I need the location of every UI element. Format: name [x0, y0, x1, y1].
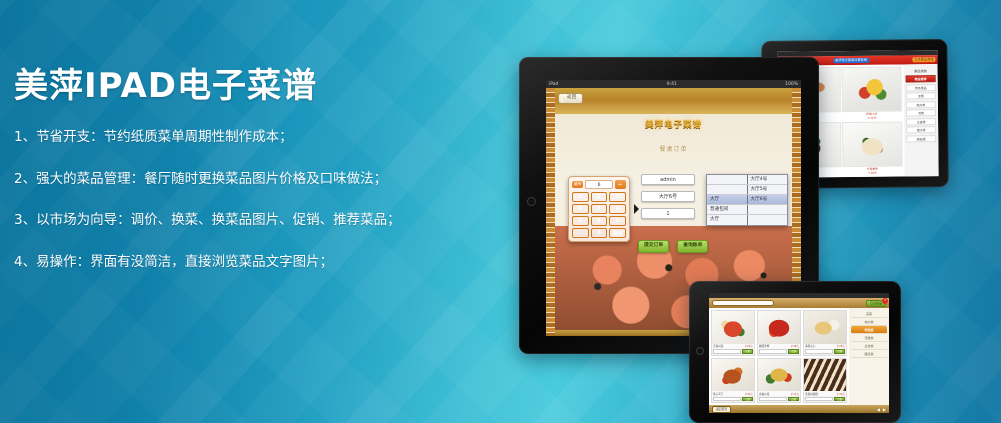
dish-price: ￥42元 — [745, 392, 754, 396]
sidebar-item-stirfry[interactable]: 热炒类 — [906, 101, 936, 108]
home-button[interactable] — [527, 197, 536, 206]
dish-name: 辣子鸡丁 — [713, 392, 723, 396]
dish-order-row: 点菜 — [804, 396, 846, 402]
dish-price: ￥22元 — [791, 392, 800, 396]
table-row[interactable]: 大厅4号 — [707, 175, 787, 185]
table-select-dropdown[interactable]: 大厅4号 大厅5号 大厅 大厅6号 普通包间 — [706, 174, 788, 226]
app-subtitle: 餐桌订单 — [546, 144, 801, 153]
status-carrier: iPad — [549, 82, 558, 87]
keypad-key[interactable]: 5 — [591, 204, 608, 214]
dish-price: ￥32元 — [842, 116, 903, 121]
dish-card[interactable]: 彩椒小炒 ￥32元 — [841, 67, 902, 121]
dish-name: 香酥点心 — [805, 344, 815, 348]
tablet-device-bottom-right: 已点菜品 3 宫保时蔬 ￥26元 — [689, 281, 901, 423]
keypad-key[interactable]: 2 — [591, 192, 608, 202]
dish-card[interactable]: 宫保时蔬 ￥26元 点菜 — [711, 310, 755, 356]
sidebar-item-staple[interactable]: 主食类 — [906, 118, 936, 125]
submit-order-button[interactable]: 提交订单 — [638, 240, 669, 253]
sidebar-item-specialty[interactable]: 特色菜品 — [906, 84, 936, 91]
pointer-arrow-icon — [634, 204, 644, 214]
sidebar-item-dessert[interactable]: 甜点类 — [851, 350, 887, 358]
chevron-right-icon[interactable]: ▶ — [883, 407, 886, 412]
sidebar-item-specialty[interactable]: 特色菜 — [851, 326, 887, 334]
order-actions: 提交订单 查询账单 — [638, 240, 708, 253]
sidebar-item-cold[interactable]: 凉菜 — [851, 310, 887, 318]
dish-image — [758, 359, 800, 392]
dish-price: ￥26元 — [745, 344, 754, 348]
dish-order-row: 点菜 — [758, 396, 800, 402]
user-field[interactable]: admin — [641, 174, 695, 185]
dish-order-row: 点菜 — [712, 396, 754, 402]
add-dish-button[interactable]: 点菜 — [834, 397, 845, 402]
quantity-stepper[interactable] — [805, 349, 833, 354]
add-dish-button[interactable]: 点菜 — [742, 349, 753, 354]
table-cell-name: 大厅4号 — [747, 175, 788, 184]
app-footer: 返回首页 ◀ ▶ — [709, 405, 889, 413]
tablet-screen-dish-picker: 已点菜品 3 宫保时蔬 ￥26元 — [709, 293, 889, 413]
sidebar-item-dessert[interactable]: 甜品类 — [906, 135, 936, 142]
dish-card[interactable]: 香酥点心 ￥18元 点菜 — [803, 310, 847, 356]
cart-count-badge: 3 — [882, 298, 888, 304]
dish-price: ￥18元 — [837, 344, 846, 348]
keypad-key[interactable]: 0 — [591, 228, 608, 238]
home-button[interactable] — [696, 347, 704, 355]
table-cell-name: 大厅5号 — [747, 185, 788, 194]
keypad-key[interactable]: 8 — [591, 216, 608, 226]
dish-image — [804, 359, 846, 392]
status-time: 9:41 — [667, 82, 677, 87]
table-field[interactable]: 大厅6号 — [641, 191, 695, 202]
list-item: 2、强大的菜品管理：餐厅随时更换菜品图片价格及口味做法； — [14, 173, 494, 187]
promo-banner: 美萍IPAD电子菜谱 1、节省开支：节约纸质菜单周期性制作成本； 2、强大的菜品… — [0, 0, 1001, 423]
backspace-icon[interactable] — [615, 180, 626, 189]
sidebar-item-featured[interactable]: 精选推荐 — [906, 75, 936, 82]
list-item: 4、易操作：界面有没简洁，直接浏览菜品文字图片； — [14, 256, 494, 270]
table-cell-name — [747, 205, 788, 214]
back-button[interactable]: 返回 — [558, 93, 583, 104]
order-form-fields: admin 大厅6号 1 — [641, 174, 695, 225]
sidebar-item-stirfry[interactable]: 热炒类 — [851, 318, 887, 326]
back-home-button[interactable]: 返回首页 — [712, 406, 731, 413]
keypad-key[interactable]: 6 — [609, 204, 626, 214]
dish-order-row: 点菜 — [712, 349, 754, 355]
query-bill-button[interactable]: 查询账单 — [677, 240, 708, 253]
ornament-border-left-icon — [546, 88, 555, 336]
dish-grid: 宫保时蔬 ￥26元 点菜 糖醋里脊 — [709, 308, 849, 405]
sidebar-item-staple[interactable]: 主食类 — [851, 342, 887, 350]
quantity-stepper[interactable] — [713, 349, 741, 354]
keypad-tag-label: 桌号 — [572, 181, 583, 189]
dish-card[interactable]: 糖醋里脊 ￥38元 点菜 — [757, 310, 801, 356]
dish-picker-body: 宫保时蔬 ￥26元 点菜 糖醋里脊 — [709, 308, 889, 405]
dish-image — [712, 311, 754, 344]
ordered-items-button[interactable]: 已点菜品管理 — [912, 57, 935, 62]
dish-image — [712, 359, 754, 392]
list-item: 1、节省开支：节约纸质菜单周期性制作成本； — [14, 131, 494, 145]
add-dish-button[interactable]: 点菜 — [788, 397, 799, 402]
keypad-key[interactable]: 3 — [609, 192, 626, 202]
table-cell-area — [707, 185, 747, 194]
sidebar-item-drinks[interactable]: 酒水类 — [906, 126, 936, 133]
app-topbar: 已点菜品 3 — [709, 298, 889, 308]
count-field[interactable]: 1 — [641, 208, 695, 219]
keypad-key[interactable]: 9 — [609, 216, 626, 226]
dish-image — [758, 311, 800, 344]
table-cell-area — [707, 175, 747, 184]
dish-image — [842, 121, 903, 167]
cart-label: 已点菜品 — [870, 301, 882, 305]
status-battery: 100% — [785, 82, 798, 87]
category-sidebar: 凉菜 热炒类 特色菜 汤羹类 主食类 甜点类 — [849, 308, 889, 405]
table-cell-name — [747, 215, 788, 225]
quantity-stepper[interactable] — [805, 397, 833, 402]
table-row[interactable]: 大厅 — [707, 215, 787, 225]
keypad-key-confirm[interactable]: 确定 — [609, 228, 626, 238]
dish-card[interactable]: 青椒炒蛋 ￥22元 点菜 — [757, 358, 801, 404]
pagination-nav: ◀ ▶ — [877, 407, 886, 412]
tablet-bezel: 已点菜品 3 宫保时蔬 ￥26元 — [689, 281, 901, 423]
dish-card[interactable]: 黑森林蛋糕 ￥30元 点菜 — [803, 358, 847, 404]
dish-card[interactable]: 什锦素烩 ￥28元 — [842, 121, 903, 175]
table-cell-area: 普通包间 — [707, 205, 747, 214]
feature-list: 1、节省开支：节约纸质菜单周期性制作成本； 2、强大的菜品管理：餐厅随时更换菜品… — [14, 131, 494, 269]
sidebar-item-cold[interactable]: 凉菜 — [906, 92, 936, 99]
add-dish-button[interactable]: 点菜 — [788, 349, 799, 354]
quantity-stepper[interactable] — [713, 397, 741, 402]
dish-price: ￥38元 — [791, 344, 800, 348]
keypad-key[interactable]: . — [572, 228, 589, 238]
keypad-grid: 1 2 3 4 5 6 7 8 9 . 0 确定 — [572, 192, 626, 238]
app-title: 美萍电子菜谱 — [546, 118, 801, 130]
numeric-keypad[interactable]: 桌号 6 1 2 3 4 5 6 7 8 — [568, 176, 630, 242]
table-cell-name: 大厅6号 — [747, 195, 788, 204]
list-item: 3、以市场为向导：调价、换菜、换菜品图片、促销、推荐菜品； — [14, 214, 494, 228]
keypad-key[interactable]: 7 — [572, 216, 589, 226]
dish-price: ￥28元 — [842, 170, 903, 175]
table-row[interactable]: 普通包间 — [707, 205, 787, 215]
quantity-stepper[interactable] — [759, 397, 787, 402]
app-topbar: 返回 — [555, 88, 792, 114]
table-cell-area: 大厅 — [707, 215, 747, 225]
ios-status-bar: iPad 9:41 100% — [546, 80, 801, 88]
cart-button[interactable]: 已点菜品 3 — [866, 300, 886, 307]
marketing-copy: 美萍IPAD电子菜谱 1、节省开支：节约纸质菜单周期性制作成本； 2、强大的菜品… — [14, 68, 494, 297]
keypad-value-input[interactable]: 6 — [585, 180, 613, 189]
page-title: 美萍IPAD电子菜谱 — [14, 68, 494, 105]
dish-card[interactable]: 辣子鸡丁 ￥42元 点菜 — [711, 358, 755, 404]
sidebar-item-soup[interactable]: 汤羹类 — [851, 334, 887, 342]
table-cell-area: 大厅 — [707, 195, 747, 204]
chevron-left-icon[interactable]: ◀ — [877, 407, 880, 412]
dish-image — [804, 311, 846, 344]
dish-order-row: 点菜 — [758, 349, 800, 355]
dish-name: 黑森林蛋糕 — [805, 392, 818, 396]
keypad-key[interactable]: 4 — [572, 204, 589, 214]
add-dish-button[interactable]: 点菜 — [742, 397, 753, 402]
table-row-selected[interactable]: 大厅 大厅6号 — [707, 195, 787, 205]
table-row[interactable]: 大厅5号 — [707, 185, 787, 195]
dish-price: ￥30元 — [837, 392, 846, 396]
category-sidebar: 菜品类别 精选推荐 特色菜品 凉菜 热炒类 汤类 主食类 酒水类 甜品类 — [903, 64, 938, 176]
sidebar-title: 菜品类别 — [906, 66, 936, 75]
keypad-key[interactable]: 1 — [572, 192, 589, 202]
add-dish-button[interactable]: 点菜 — [834, 349, 845, 354]
dish-name: 糖醋里脊 — [759, 344, 769, 348]
search-input[interactable] — [712, 300, 774, 306]
dish-name: 宫保时蔬 — [713, 344, 723, 348]
dish-order-row: 点菜 — [804, 349, 846, 355]
dish-image — [841, 67, 902, 113]
quantity-stepper[interactable] — [759, 349, 787, 354]
keypad-display: 桌号 6 — [572, 180, 626, 189]
dish-name: 青椒炒蛋 — [759, 392, 769, 396]
app-title-pill: 美萍电子菜谱点餐系统 — [833, 58, 869, 64]
sidebar-item-soup[interactable]: 汤类 — [906, 109, 936, 116]
